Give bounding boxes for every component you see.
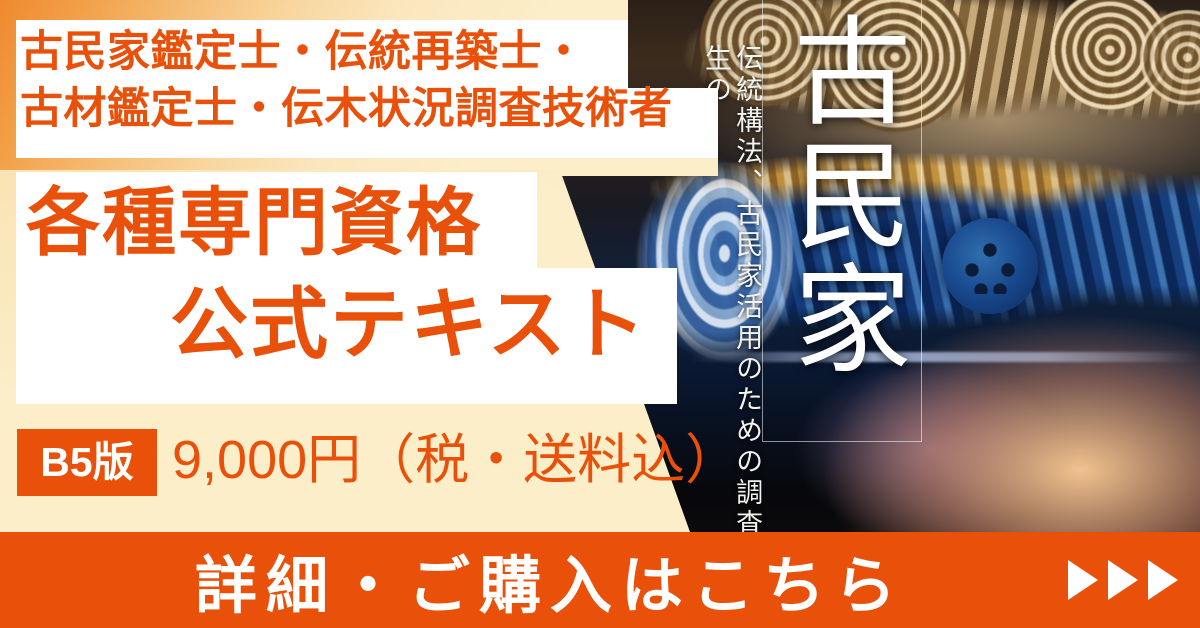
cta-arrows	[1068, 532, 1178, 628]
format-badge: B5版	[17, 429, 157, 496]
family-crest-medallion	[942, 218, 1038, 314]
qualification-title-line2: 古材鑑定士・伝木状況調査技術者	[20, 81, 720, 138]
triangle-right-icon	[1108, 560, 1138, 600]
triangle-right-icon	[1068, 560, 1098, 600]
headline-line1: 各種専門資格	[26, 186, 482, 260]
triangle-right-icon	[1148, 560, 1178, 600]
price-text: 9,000円（税・送料込）	[172, 433, 739, 487]
format-badge-label: B5版	[40, 442, 133, 483]
qualification-titles: 古民家鑑定士・伝統再築士・ 古材鑑定士・伝木状況調査技術者	[20, 24, 720, 138]
headline-line2: 公式テキスト	[170, 285, 648, 363]
promo-banner: 古民家 伝統構法、古民家活用のための調査と再生の 古民家鑑定士・伝統再築士・ 古…	[0, 0, 1200, 628]
cta-label[interactable]: 詳細・ご購入はこちら	[0, 532, 1100, 628]
cover-title: 古民家	[770, 10, 910, 382]
qualification-title-line1: 古民家鑑定士・伝統再築士・	[20, 24, 720, 81]
